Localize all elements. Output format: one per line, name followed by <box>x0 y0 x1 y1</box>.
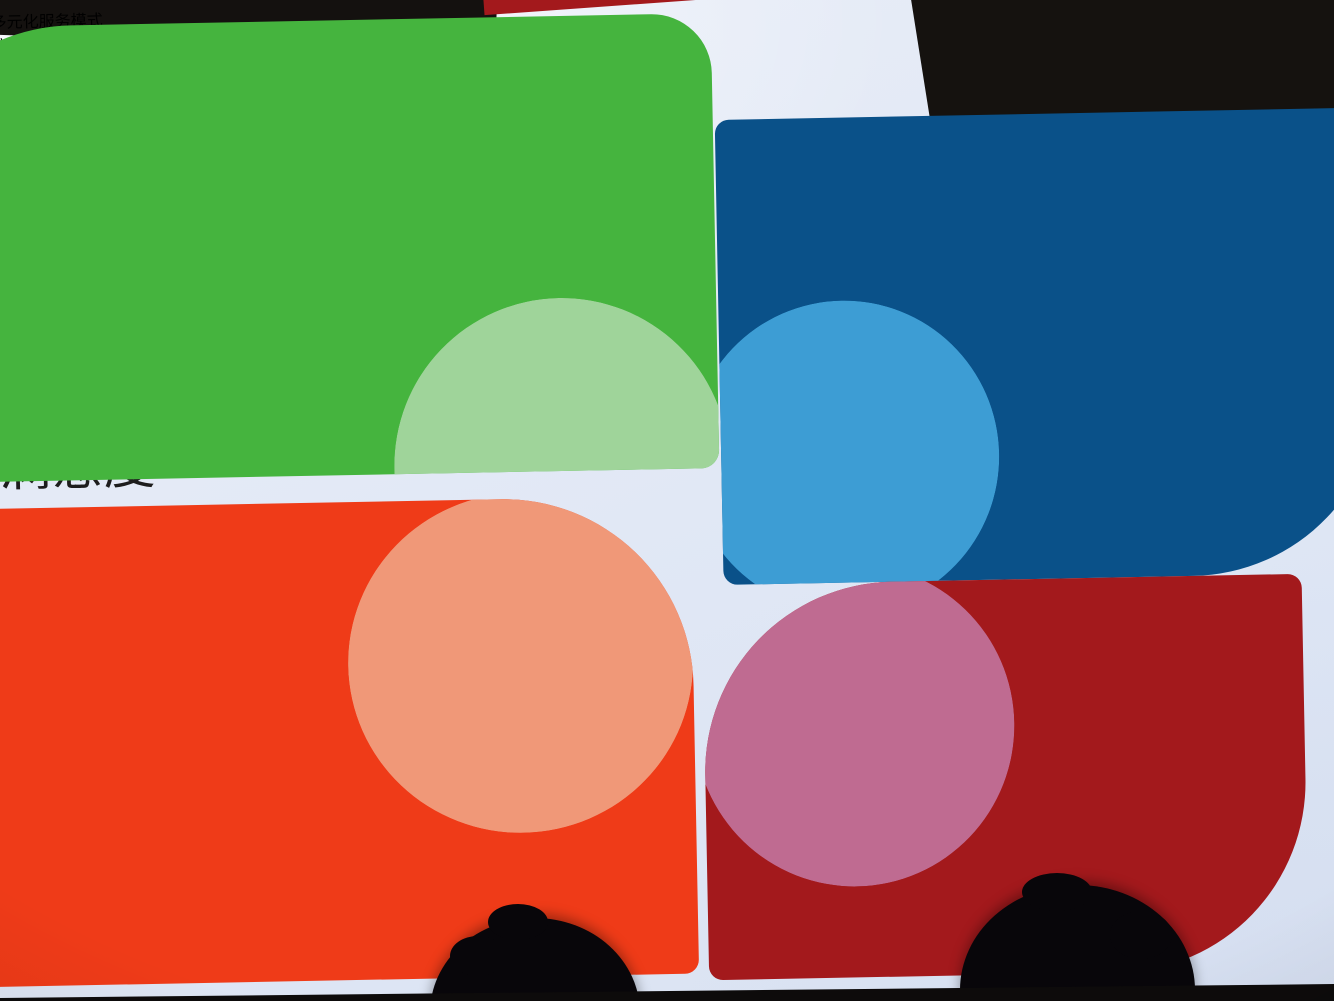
quadrant-clip-efficiency <box>0 496 699 989</box>
lobe-quality <box>715 298 1002 585</box>
hair-tuft <box>488 904 548 940</box>
hair-tuft <box>1110 911 1172 959</box>
projected-slide-photo: 多元化服务模式 按需付费 服务集中化 服务专业化 专业化方案 优化创新 增值服务… <box>0 0 1334 1001</box>
quadrant-clip-cost <box>0 13 719 484</box>
lobe-satisfaction <box>702 574 1018 890</box>
hair-tuft <box>450 936 506 976</box>
quadrant-clip-quality <box>715 107 1334 585</box>
hair-tuft <box>1022 873 1092 911</box>
slide-content: 多元化服务模式 按需付费 服务集中化 服务专业化 专业化方案 优化创新 增值服务… <box>0 0 1334 1001</box>
lobe-efficiency <box>345 496 696 837</box>
lobe-cost <box>391 295 719 484</box>
